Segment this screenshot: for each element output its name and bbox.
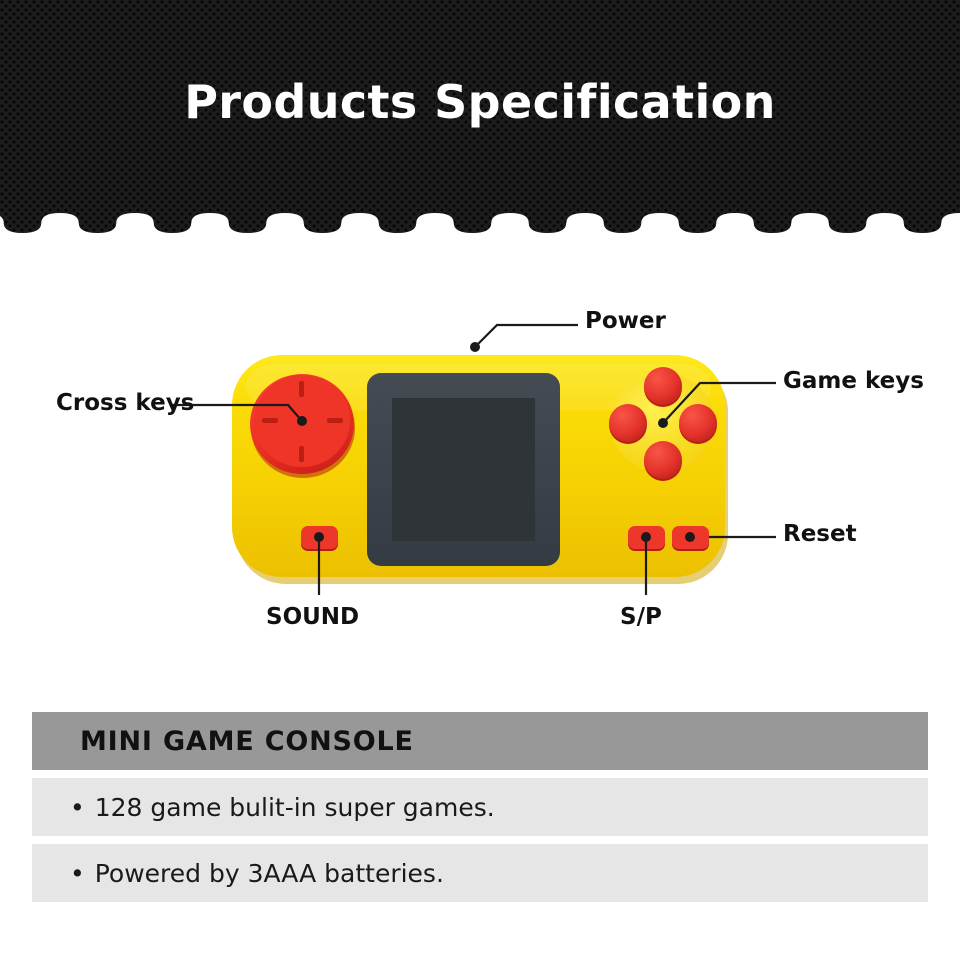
spec-row-text: 128 game bulit-in super games. xyxy=(95,793,495,822)
spec-table-row: •Powered by 3AAA batteries. xyxy=(32,844,928,902)
console-drawing xyxy=(0,240,960,690)
spec-row-content: •Powered by 3AAA batteries. xyxy=(32,859,444,888)
spec-row-content: •128 game bulit-in super games. xyxy=(32,793,495,822)
callout-label-sound: SOUND xyxy=(266,604,359,630)
spec-table-header-label: MINI GAME CONSOLE xyxy=(32,726,414,757)
header-banner: Products Specification xyxy=(0,0,960,240)
spec-table-header-row: MINI GAME CONSOLE xyxy=(32,712,928,770)
product-illustration: Cross keys Power Game keys Reset SOUND S… xyxy=(0,240,960,690)
callout-label-sp: S/P xyxy=(620,604,662,630)
callout-label-power: Power xyxy=(585,308,666,334)
bullet-icon: • xyxy=(70,859,85,888)
spec-table-row: •128 game bulit-in super games. xyxy=(32,778,928,836)
spec-row-text: Powered by 3AAA batteries. xyxy=(95,859,444,888)
spec-table: MINI GAME CONSOLE •128 game bulit-in sup… xyxy=(32,712,928,902)
bullet-icon: • xyxy=(70,793,85,822)
callout-label-reset: Reset xyxy=(783,521,857,547)
callout-label-game-keys: Game keys xyxy=(783,368,924,394)
page-title: Products Specification xyxy=(0,74,960,130)
callout-label-cross-keys: Cross keys xyxy=(56,390,194,416)
